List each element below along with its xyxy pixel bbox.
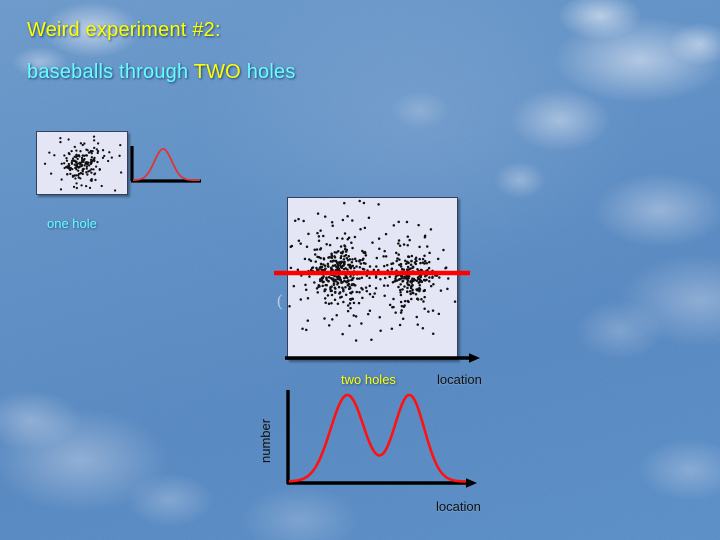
two-holes-caption: two holes bbox=[341, 372, 396, 387]
two-holes-x-axis bbox=[285, 352, 485, 368]
two-holes-x-axis-label: location bbox=[437, 372, 482, 387]
one-hole-caption: one hole bbox=[47, 216, 97, 231]
one-hole-distribution-chart bbox=[129, 144, 203, 188]
title-highlight-two: TWO bbox=[194, 61, 241, 83]
stray-parenthesis-glyph: ( bbox=[277, 291, 283, 311]
slide-title-line-1: Weird experiment #2: bbox=[27, 19, 221, 42]
one-hole-scatter-plot bbox=[37, 132, 127, 194]
two-holes-red-marker-line bbox=[274, 268, 474, 278]
slide-canvas: Weird experiment #2: baseballs through T… bbox=[0, 0, 720, 540]
distribution-chart-x-axis-label: location bbox=[436, 499, 481, 514]
title-prefix: baseballs through bbox=[27, 61, 194, 83]
title-suffix: holes bbox=[241, 61, 296, 83]
two-holes-scatter-plot bbox=[288, 198, 457, 359]
distribution-chart-axes bbox=[284, 388, 484, 492]
distribution-chart-y-axis-label: number bbox=[258, 419, 273, 463]
one-hole-scatter-panel bbox=[36, 131, 128, 195]
two-holes-scatter-panel bbox=[287, 197, 458, 360]
slide-title-line-2: baseballs through TWO holes bbox=[27, 61, 296, 84]
